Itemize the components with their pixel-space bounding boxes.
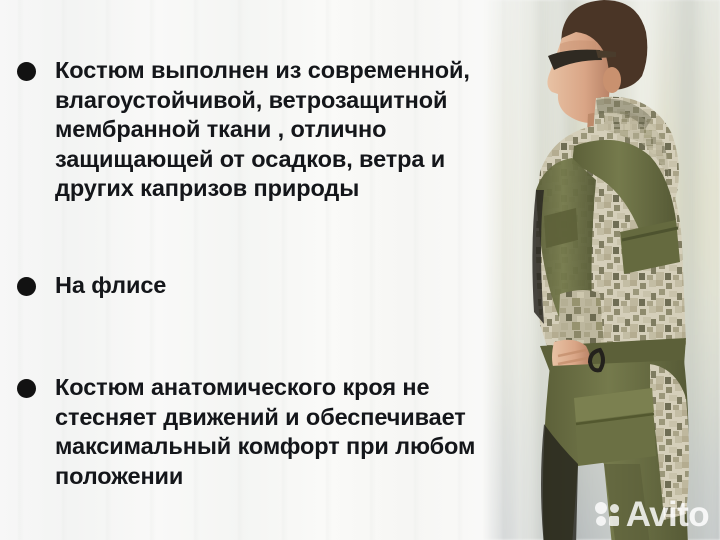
avito-wordmark: Avito: [626, 497, 709, 532]
list-item: Костюм выполнен из современной, влагоуст…: [17, 56, 487, 204]
listing-image-card: Костюм выполнен из современной, влагоуст…: [0, 0, 720, 540]
bullet-dot-icon: [17, 379, 36, 398]
list-item: На флисе: [17, 271, 487, 301]
avito-dots-logo-icon: [595, 501, 622, 528]
tree-trunk: [704, 0, 720, 540]
list-item-text: На флисе: [55, 271, 487, 301]
feature-list: Костюм выполнен из современной, влагоуст…: [0, 0, 500, 540]
bullet-dot-icon: [17, 277, 36, 296]
list-item-text: Костюм анатомического кроя не стесняет д…: [55, 373, 487, 491]
bullet-dot-icon: [17, 62, 36, 81]
list-item-text: Костюм выполнен из современной, влагоуст…: [55, 56, 487, 204]
avito-watermark: Avito: [595, 497, 709, 532]
model-photo: [500, 0, 700, 540]
list-item: Костюм анатомического кроя не стесняет д…: [17, 373, 487, 491]
